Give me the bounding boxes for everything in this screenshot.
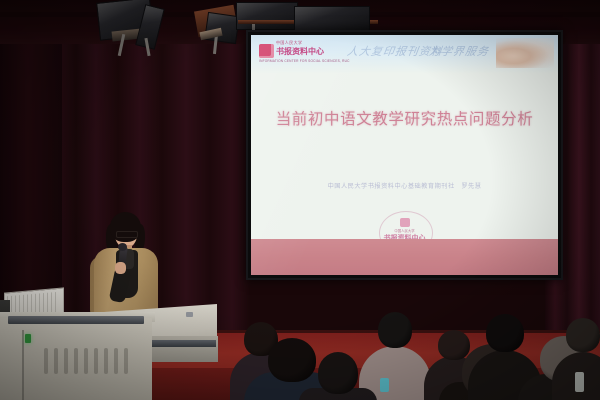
- podium-vent-slot: [114, 348, 118, 374]
- spotlight-fixture-5: [294, 6, 370, 32]
- logo-chinese-name: 书报资料中心: [276, 46, 324, 57]
- watermark-book-icon: [400, 218, 410, 227]
- logo-book-mark-icon: [259, 44, 274, 58]
- podium-vent-slot: [64, 348, 68, 374]
- podium-keyboard-tray: [8, 316, 144, 324]
- curtain-fold-left: [0, 0, 62, 320]
- spotlight-fixture-3: [204, 12, 240, 44]
- attendee-8-head: [566, 318, 600, 352]
- slide-header-banner: 中国人民大学 书报资料中心 INFORMATION CENTER FOR SOC…: [251, 35, 558, 73]
- logo-english-name: INFORMATION CENTER FOR SOCIAL SCIENCES, …: [259, 59, 350, 63]
- attendee-6-head: [486, 314, 524, 352]
- podium-right-drawer: [152, 340, 216, 347]
- slide-title: 当前初中语文教学研究热点问题分析: [251, 107, 558, 129]
- podium-vent-slot: [84, 348, 88, 374]
- water-bottle-cyan: [380, 378, 389, 392]
- podium-vent-slot: [44, 348, 48, 374]
- attendee-4-head: [438, 330, 470, 360]
- podium-vent-slot: [74, 348, 78, 374]
- banner-calligraphy-right: 为学界服务: [428, 43, 490, 59]
- attendee-3-head: [378, 312, 412, 348]
- attendee-2-head: [268, 338, 316, 382]
- decorative-scroll-art-icon: [496, 38, 554, 68]
- microphone-head-icon: [118, 243, 127, 251]
- presenter-glasses: [116, 231, 138, 238]
- presenter-hand: [115, 262, 126, 274]
- podium-vent-slot: [94, 348, 98, 374]
- water-bottle-clear: [575, 372, 584, 392]
- projection-screen: 中国人民大学 书报资料中心 INFORMATION CENTER FOR SOC…: [246, 30, 563, 280]
- slide-footer-band: [251, 239, 558, 275]
- podium-door-seam: [22, 330, 24, 400]
- podium-vent-slot: [54, 348, 58, 374]
- podium-vent-slot: [124, 348, 128, 374]
- attendee-9-head: [318, 352, 358, 394]
- spotlight-fixture-4: [236, 2, 298, 30]
- institution-logo: 中国人民大学 书报资料中心 INFORMATION CENTER FOR SOC…: [259, 39, 333, 67]
- slide-subtitle-author: 中国人民大学书报资料中心基础教育期刊社 罗先慧: [251, 181, 558, 190]
- presentation-photo-scene: 中国人民大学 书报资料中心 INFORMATION CENTER FOR SOC…: [0, 0, 600, 400]
- podium-vent-slot: [104, 348, 108, 374]
- podium-power-indicator: [25, 334, 31, 343]
- presentation-slide: 中国人民大学 书报资料中心 INFORMATION CENTER FOR SOC…: [251, 35, 558, 275]
- podium-clip-right: [186, 312, 193, 317]
